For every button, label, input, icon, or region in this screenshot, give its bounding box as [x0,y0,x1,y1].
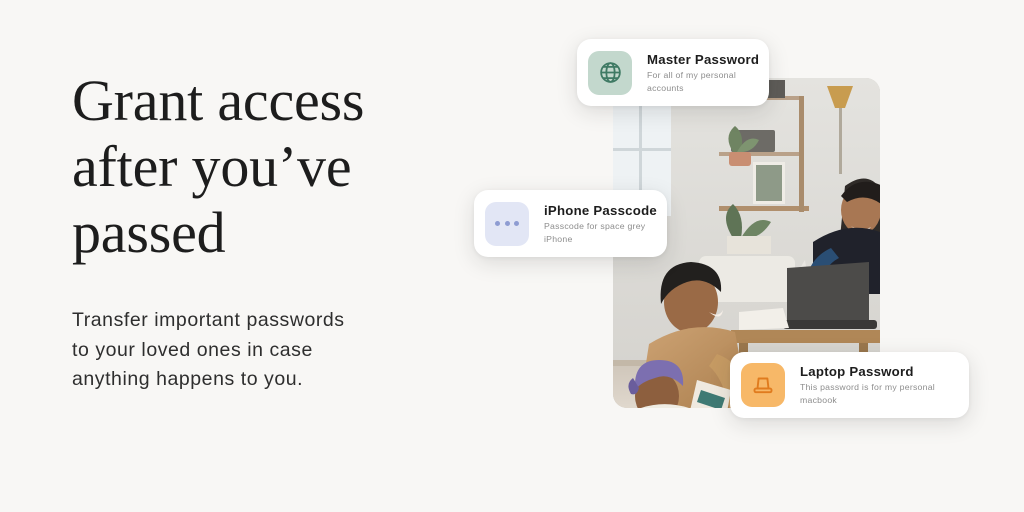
hero-subcopy: Transfer important passwords to your lov… [72,306,512,395]
page-title: Grant access after you’ve passed [72,68,512,266]
globe-icon-tile [588,51,632,95]
credential-card-laptop-password[interactable]: Laptop Password This password is for my … [730,352,969,418]
dot-1 [495,221,500,226]
dot-2 [505,221,510,226]
card-subtitle-iphone: Passcode for space grey iPhone [544,220,667,246]
globe-icon [598,60,623,85]
card-text-iphone: iPhone Passcode Passcode for space grey … [544,202,667,246]
three-dots-icon-tile [485,202,529,246]
card-subtitle-laptop: This password is for my personal macbook [800,381,969,407]
dot-3 [514,221,519,226]
credential-card-master-password[interactable]: Master Password For all of my personal a… [577,39,769,106]
card-title-laptop: Laptop Password [800,363,969,380]
laptop-icon-tile [741,363,785,407]
three-dots-icon [495,221,519,226]
credential-card-iphone-passcode[interactable]: iPhone Passcode Passcode for space grey … [474,190,667,257]
laptop-icon [750,372,776,398]
card-title-iphone: iPhone Passcode [544,202,667,219]
card-text-laptop: Laptop Password This password is for my … [800,363,969,407]
card-subtitle-master: For all of my personal accounts [647,69,769,95]
card-text-master: Master Password For all of my personal a… [647,51,769,95]
hero-copy: Grant access after you’ve passed Transfe… [72,68,512,395]
card-title-master: Master Password [647,51,769,68]
